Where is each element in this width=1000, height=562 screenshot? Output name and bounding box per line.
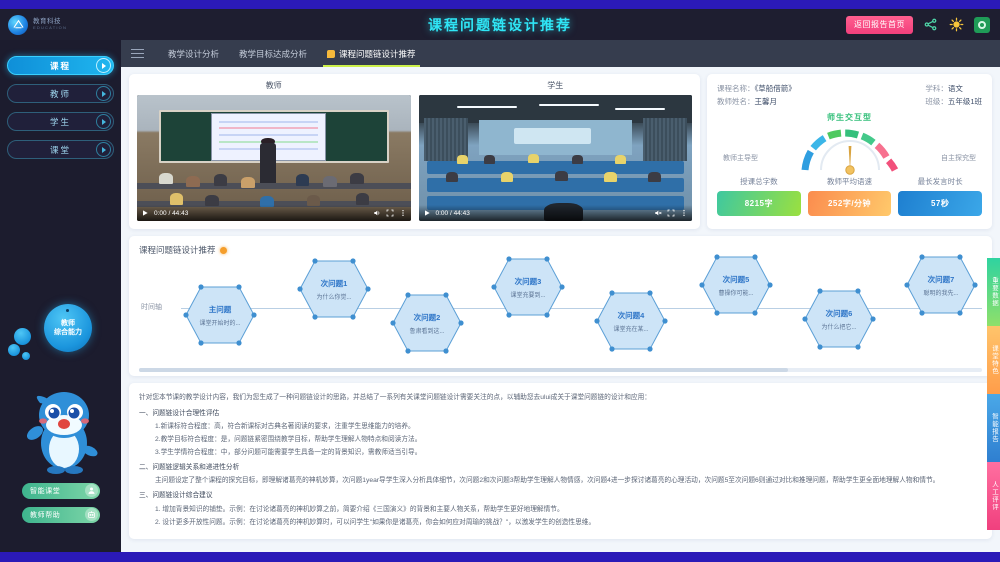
chain-node-2[interactable]: 次问题2 鲁肃看到这...: [390, 292, 464, 354]
question-chain-title: 课程问题链设计推荐: [139, 244, 216, 256]
bubble-sparkle: [66, 309, 69, 312]
sidebar-nav-list: 课程 教师 学生 课堂: [0, 40, 121, 159]
course-meta-left: 课程名称：《草船借箭》 教师姓名：王馨月: [717, 82, 796, 108]
video-student-title: 学生: [419, 80, 693, 91]
ai-classroom-label: 智能课堂: [30, 486, 60, 496]
lightbulb-icon: [220, 247, 227, 254]
analysis-item-3-1: 1. 增加背景知识的铺垫。示例：在讨论诸葛亮的神机妙算之前，简要介绍《三国演义》…: [139, 503, 982, 516]
stat-speech-rate-label: 教师平均语速: [808, 176, 892, 187]
subject-label: 学科：: [925, 84, 948, 93]
stat-longest-speech: 最长发言时长 57秒: [898, 176, 982, 216]
vtab-smart-report[interactable]: 智能报告: [987, 394, 1000, 462]
question-chain-panel: 课程问题链设计推荐 时间轴 主问题: [129, 236, 992, 376]
chain-node-1[interactable]: 次问题1 为什么你觉...: [297, 258, 371, 320]
tab-bar: 教学设计分析 教学目标达成分析 课程问题链设计推荐: [121, 40, 1000, 67]
ai-action-buttons: 智能课堂 教师帮助: [22, 483, 100, 523]
bottom-accent-strip: [0, 552, 1000, 562]
chain-node-3[interactable]: 次问题3 课堂充要到...: [491, 256, 565, 318]
fullscreen-icon[interactable]: [974, 17, 990, 33]
user-icon: [85, 484, 98, 497]
content-scroll-area: 教师: [121, 67, 1000, 552]
sidebar-item-classroom[interactable]: 课堂: [7, 140, 114, 159]
stat-total-words-value: 8215字: [717, 191, 801, 216]
sidebar-item-classroom-label: 课堂: [50, 144, 71, 156]
chevron-right-icon: [96, 114, 111, 129]
sidebar-item-course-label: 课程: [50, 60, 71, 72]
class-value: 五年级1班: [948, 97, 982, 106]
video-student-player[interactable]: 0:00 / 44:43: [419, 95, 693, 221]
chevron-right-icon: [96, 58, 111, 73]
play-icon[interactable]: [423, 209, 431, 217]
question-chain-header: 课程问题链设计推荐: [139, 244, 982, 256]
chain-node-0[interactable]: 主问题 课堂开始时的...: [183, 284, 257, 346]
tab-teaching-design-analysis[interactable]: 教学设计分析: [158, 40, 229, 67]
sidebar-item-teacher-label: 教师: [50, 88, 71, 100]
video-teacher-column: 教师: [137, 80, 411, 221]
app-header: 教育科技 EDUCATION 课程问题链设计推荐 返回报告首页: [0, 9, 1000, 40]
top-accent-strip: [0, 0, 1000, 9]
top-row: 教师: [129, 74, 992, 229]
stat-total-words: 授课总字数 8215字: [717, 176, 801, 216]
mascot-character: [20, 385, 102, 480]
analysis-item-1-1: 1.新课标符合程度：高，符合新课标对古典名著阅读的要求，注重学生思维能力的培养。: [139, 420, 982, 433]
teacher-help-label: 教师帮助: [30, 510, 60, 520]
analysis-heading-3: 三、问题链设计综合建议: [139, 489, 982, 502]
volume-icon[interactable]: [373, 209, 381, 217]
analysis-item-1-3: 3.学生学情符合程度：中，部分问题可能需要学生具备一定的背景知识，需教师适当引导…: [139, 446, 982, 459]
robot-icon: [85, 508, 98, 521]
ai-classroom-button[interactable]: 智能课堂: [22, 483, 100, 499]
gauge-dial: [791, 124, 909, 176]
header-actions: 返回报告首页: [846, 16, 1000, 34]
course-info-panel: 课程名称：《草船借箭》 教师姓名：王馨月 学科：语文 班级：五年级1班: [707, 74, 992, 229]
video-teacher-title: 教师: [137, 80, 411, 91]
more-options-icon[interactable]: [680, 209, 688, 217]
share-icon[interactable]: [922, 16, 939, 33]
analysis-panel: 针对您本节课的教学设计内容，我们为您生成了一种问题链设计的思路，并总结了一系列有…: [129, 383, 992, 539]
chevron-right-icon: [96, 142, 111, 157]
bubble-dot-large: [14, 328, 31, 345]
chain-node-7[interactable]: 次问题7 聪明的我先...: [904, 254, 978, 316]
gauge-right-label: 自主探究型: [941, 153, 976, 163]
course-name-row: 课程名称：《草船借箭》: [717, 82, 796, 95]
bubble-line-2: 综合能力: [54, 328, 82, 337]
course-name-label: 课程名称：: [717, 84, 755, 93]
teacher-help-button[interactable]: 教师帮助: [22, 507, 100, 523]
analysis-item-3-2: 2. 设计更多开放性问题。示例：在讨论诸葛亮的神机妙算时，可以问学生"如果你是诸…: [139, 516, 982, 529]
class-label: 班级：: [925, 97, 948, 106]
bubble-dot-medium: [8, 344, 20, 356]
main-area: 教学设计分析 教学目标达成分析 课程问题链设计推荐 教师: [121, 40, 1000, 552]
sun-icon[interactable]: [948, 16, 965, 33]
vtab-manual-review[interactable]: 人工评评: [987, 462, 1000, 530]
back-to-report-home-button[interactable]: 返回报告首页: [846, 16, 913, 34]
sidebar-item-course[interactable]: 课程: [7, 56, 114, 75]
chain-node-4[interactable]: 次问题4 课堂充在某...: [594, 290, 668, 352]
stat-group: 授课总字数 8215字 教师平均语速 252字/分钟 最长发言时长 57秒: [717, 176, 982, 216]
tab-teaching-design-analysis-label: 教学设计分析: [168, 48, 219, 60]
analysis-lead: 针对您本节课的教学设计内容，我们为您生成了一种问题链设计的思路，并总结了一系列有…: [139, 391, 982, 404]
video-student-controls: 0:00 / 44:43: [419, 205, 693, 221]
app-root: 教育科技 EDUCATION 课程问题链设计推荐 返回报告首页: [0, 0, 1000, 562]
brand-text: 教育科技 EDUCATION: [33, 19, 67, 30]
brand-logo-group: 教育科技 EDUCATION: [0, 15, 120, 35]
video-teacher-player[interactable]: 0:00 / 44:43: [137, 95, 411, 221]
video-student-column: 学生: [419, 80, 693, 221]
teacher-name-label: 教师姓名：: [717, 97, 755, 106]
gauge-title: 师生交互型: [717, 112, 982, 123]
bubble-line-1: 教师: [61, 319, 75, 328]
course-name-value: 《草船借箭》: [755, 84, 796, 93]
video-teacher-controls: 0:00 / 44:43: [137, 205, 411, 221]
fullscreen-inner: [978, 21, 986, 29]
stat-longest-speech-value: 57秒: [898, 191, 982, 216]
teacher-name-row: 教师姓名：王馨月: [717, 95, 796, 108]
chain-node-5[interactable]: 次问题5 曹操你可能...: [699, 254, 773, 316]
brand-subtitle: EDUCATION: [33, 26, 67, 30]
volume-muted-icon[interactable]: [654, 209, 662, 217]
analysis-item-1-2: 2.教学目标符合程度：是，问题链紧密围绕教学目标，帮助学生理解人物特点和阅读方法…: [139, 433, 982, 446]
play-icon[interactable]: [141, 209, 149, 217]
app-logo-icon: [8, 15, 28, 35]
capability-bubble-group: 教师 综合能力: [6, 302, 116, 367]
video-teacher-time: 0:00 / 44:43: [154, 210, 188, 217]
teacher-name-value: 王馨月: [755, 97, 778, 106]
timeline-axis-label: 时间轴: [141, 302, 162, 312]
student-classroom-image: [419, 95, 693, 221]
sidebar-item-student-label: 学生: [50, 116, 71, 128]
class-row: 班级：五年级1班: [925, 95, 982, 108]
stat-total-words-label: 授课总字数: [717, 176, 801, 187]
fullscreen-video-icon[interactable]: [386, 209, 394, 217]
teacher-capability-bubble[interactable]: 教师 综合能力: [44, 304, 92, 352]
vtab-key-data[interactable]: 重要数据: [987, 258, 1000, 326]
interaction-type-gauge: 师生交互型: [717, 112, 982, 174]
right-vertical-tabs: 重要数据 课堂特色 智能报告 人工评评: [987, 258, 1000, 530]
video-panel: 教师: [129, 74, 700, 229]
analysis-heading-1: 一、问题链设计合理性评估: [139, 407, 982, 420]
fullscreen-video-icon[interactable]: [667, 209, 675, 217]
bubble-dot-small: [22, 352, 30, 360]
vtab-class-features[interactable]: 课堂特色: [987, 326, 1000, 394]
sidebar-item-teacher[interactable]: 教师: [7, 84, 114, 103]
bookmark-icon: [327, 50, 335, 58]
analysis-heading-2: 二、问题链逻辑关系和递进性分析: [139, 461, 982, 474]
menu-toggle-icon[interactable]: [131, 49, 144, 59]
tab-question-chain-recommendation[interactable]: 课程问题链设计推荐: [317, 40, 426, 67]
question-chain-scrollbar[interactable]: [139, 368, 982, 372]
tab-goal-achievement-analysis-label: 教学目标达成分析: [239, 48, 307, 60]
more-options-icon[interactable]: [399, 209, 407, 217]
stat-speech-rate: 教师平均语速 252字/分钟: [808, 176, 892, 216]
tab-question-chain-recommendation-label: 课程问题链设计推荐: [339, 48, 416, 60]
stat-speech-rate-value: 252字/分钟: [808, 191, 892, 216]
chain-node-6[interactable]: 次问题6 为什么把它...: [802, 288, 876, 350]
subject-row: 学科：语文: [925, 82, 982, 95]
subject-value: 语文: [948, 84, 963, 93]
stat-longest-speech-label: 最长发言时长: [898, 176, 982, 187]
analysis-item-2-1: 主问题设定了整个课程的探究目标，即理解诸葛亮的神机妙算，次问题1year导学生深…: [139, 474, 982, 487]
teacher-classroom-image: [137, 95, 411, 221]
scrollbar-thumb[interactable]: [139, 368, 788, 372]
tab-goal-achievement-analysis[interactable]: 教学目标达成分析: [229, 40, 317, 67]
course-meta-right: 学科：语文 班级：五年级1班: [925, 82, 982, 108]
chevron-right-icon: [96, 86, 111, 101]
video-student-time: 0:00 / 44:43: [436, 210, 470, 217]
gauge-left-label: 教师主导型: [723, 153, 758, 163]
course-meta: 课程名称：《草船借箭》 教师姓名：王馨月 学科：语文 班级：五年级1班: [717, 82, 982, 108]
question-chain-canvas: 时间轴 主问题 课堂开始时的...: [139, 262, 982, 354]
left-sidebar: 课程 教师 学生 课堂 教师 综合能力: [0, 40, 121, 552]
sidebar-item-student[interactable]: 学生: [7, 112, 114, 131]
